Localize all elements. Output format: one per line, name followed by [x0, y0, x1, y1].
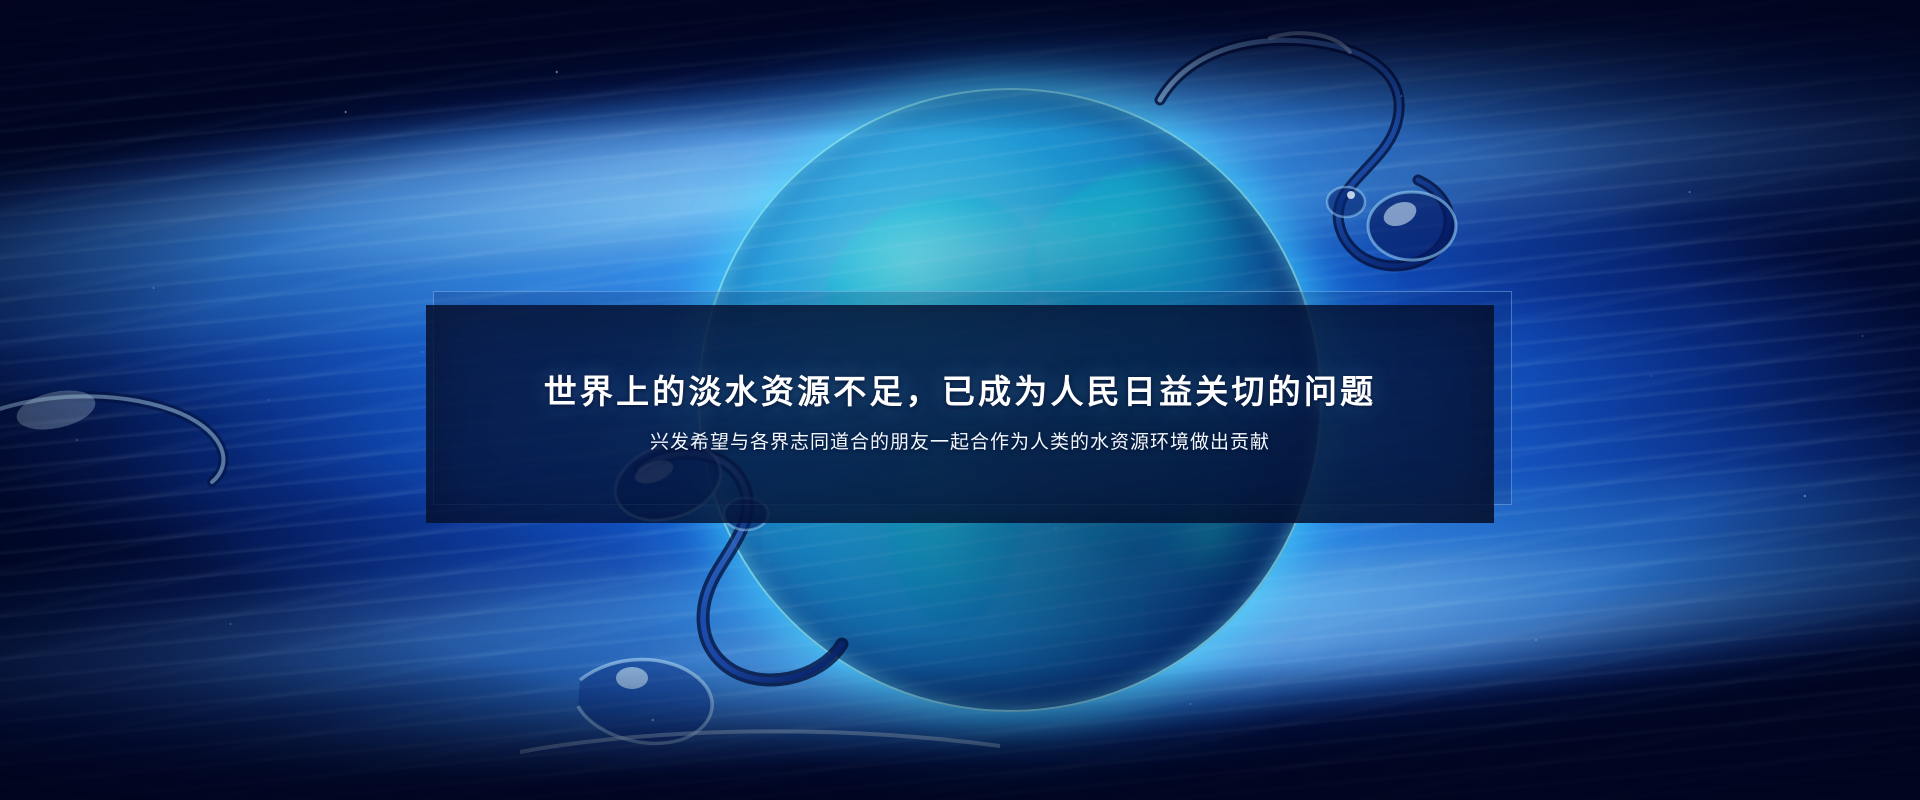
banner-headline: 世界上的淡水资源不足，已成为人民日益关切的问题 [544, 373, 1377, 411]
water-splash-top-right [1150, 30, 1630, 320]
hero-banner: 世界上的淡水资源不足，已成为人民日益关切的问题 兴发希望与各界志同道合的朋友一起… [0, 0, 1920, 800]
banner-subheadline: 兴发希望与各界志同道合的朋友一起合作为人类的水资源环境做出贡献 [650, 431, 1270, 456]
water-splash-left-mid [0, 330, 320, 550]
banner-text-block: 世界上的淡水资源不足，已成为人民日益关切的问题 兴发希望与各界志同道合的朋友一起… [426, 305, 1494, 523]
